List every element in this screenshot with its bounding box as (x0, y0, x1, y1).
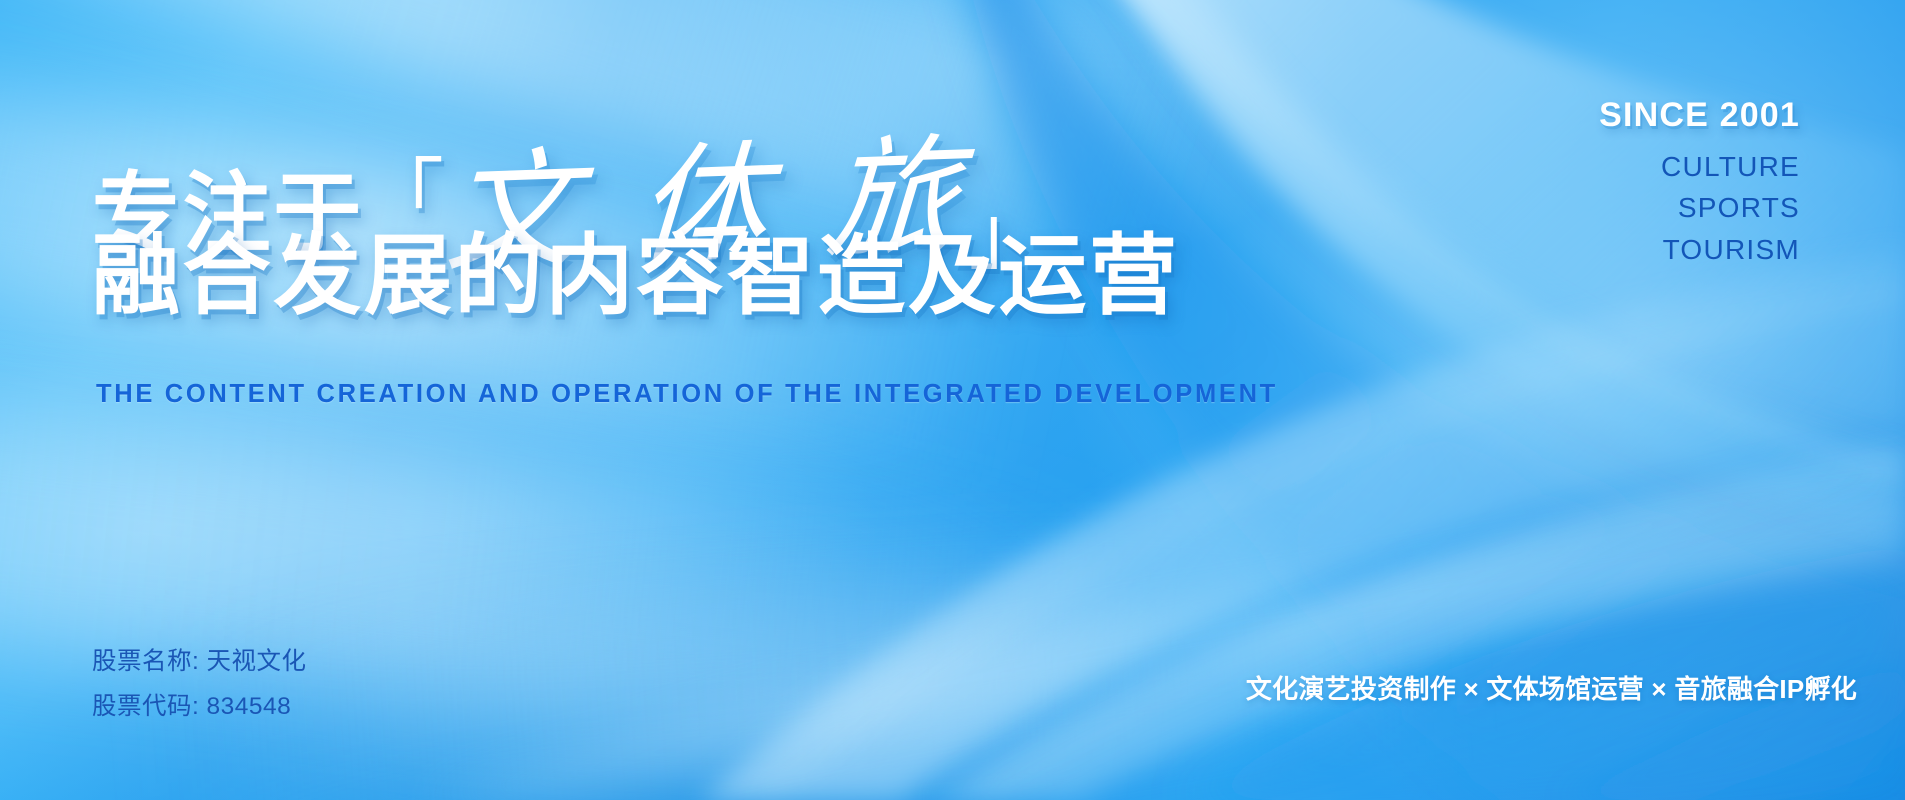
stock-name-line: 股票名称: 天视文化 (92, 640, 307, 685)
stock-code-line: 股票代码: 834548 (92, 685, 307, 730)
banner-canvas: 专注于「文 体 旅」 融合发展的内容智造及运营 THE CONTENT CREA… (0, 0, 1905, 800)
pillar-tourism: TOURISM (1599, 232, 1800, 267)
stock-info-block: 股票名称: 天视文化 股票代码: 834548 (92, 640, 307, 729)
since-and-pillars-block: SINCE 2001 CULTURE SPORTS TOURISM (1599, 96, 1800, 267)
headline-line-2: 融合发展的内容智造及运营 (92, 232, 1180, 320)
since-label: SINCE 2001 (1599, 96, 1800, 135)
business-tagline: 文化演艺投资制作 × 文体场馆运营 × 音旅融合IP孵化 (1246, 669, 1857, 706)
english-subtitle: THE CONTENT CREATION AND OPERATION OF TH… (96, 380, 1278, 409)
pillar-sports: SPORTS (1599, 190, 1800, 225)
bracket-open: 「 (364, 157, 447, 237)
pillar-culture: CULTURE (1599, 149, 1800, 184)
